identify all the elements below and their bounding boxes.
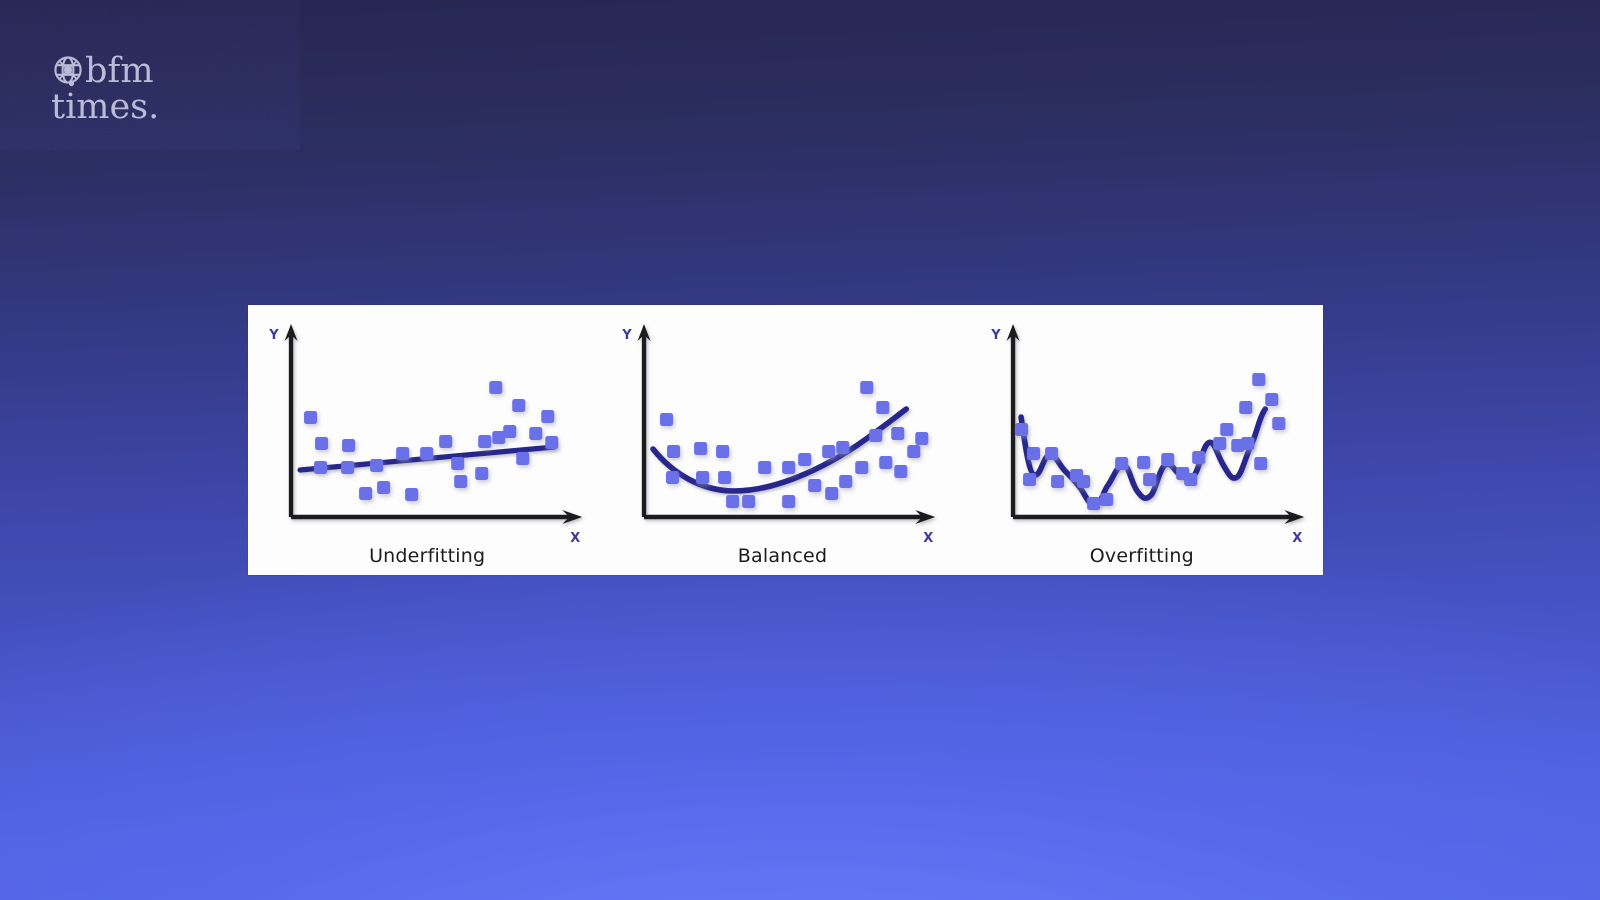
bfm-times-logo[interactable]: bfm times. <box>52 50 252 130</box>
x-axis-label-underfitting: X <box>570 531 580 546</box>
panel-balanced: Y X <box>606 305 964 575</box>
chart-balanced: Y X <box>606 305 964 575</box>
logo-text-line1: bfm <box>85 51 154 91</box>
data-markers-underfitting <box>304 381 558 501</box>
x-axis-label-overfitting: X <box>1292 531 1302 546</box>
chart-underfitting: Y X <box>248 305 606 575</box>
slide-canvas: bfm times. <box>0 0 1600 900</box>
y-axis-label-underfitting: Y <box>268 328 279 343</box>
logo-text-line2: times. <box>52 87 159 127</box>
panel-underfitting: Y X <box>248 305 606 575</box>
panel-overfitting: Y X <box>965 305 1323 575</box>
globe-icon: bfm times. <box>52 50 252 130</box>
data-markers-overfitting <box>1015 373 1285 510</box>
panel-label-balanced: Balanced <box>606 545 964 567</box>
data-markers-balanced <box>660 381 928 508</box>
y-axis-label-balanced: Y <box>622 328 633 343</box>
fit-curve-balanced <box>653 409 906 491</box>
x-axis-label-balanced: X <box>924 531 934 546</box>
panel-label-overfitting: Overfitting <box>965 545 1323 567</box>
axes-underfitting <box>285 324 583 524</box>
chart-overfitting: Y X <box>965 305 1323 575</box>
y-axis-label-overfitting: Y <box>990 328 1001 343</box>
overfitting-figure-card: Y X <box>248 305 1323 575</box>
panel-label-underfitting: Underfitting <box>248 545 606 567</box>
